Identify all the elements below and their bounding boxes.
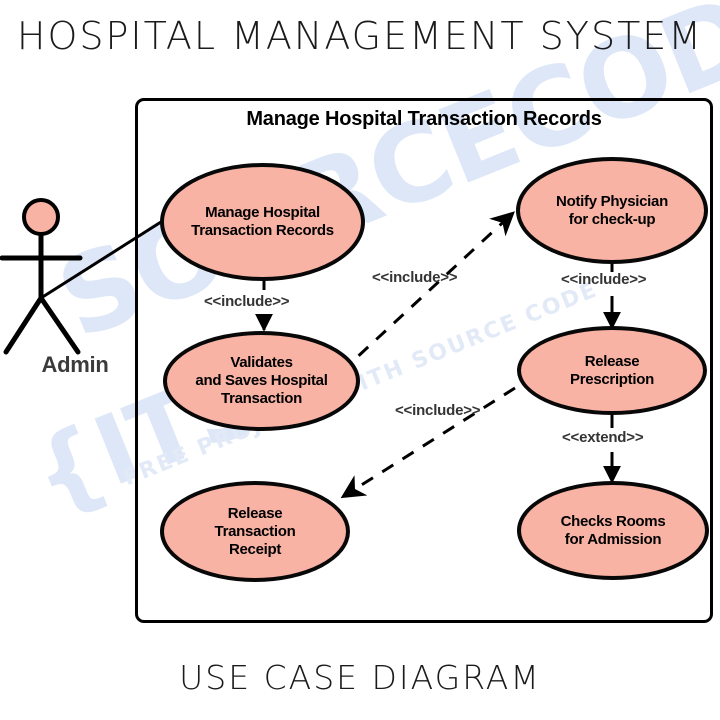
usecase-label: Checks Roomsfor Admission [553, 513, 674, 549]
actor-body-icon [2, 236, 80, 352]
system-boundary-title: Manage Hospital Transaction Records [135, 108, 713, 131]
usecase-label: Validatesand Saves HospitalTransaction [187, 354, 335, 408]
usecase-label: Manage HospitalTransaction Records [183, 204, 342, 240]
usecase-checks-rooms-for-admission[interactable]: Checks Roomsfor Admission [517, 481, 709, 580]
stereotype-prescription-to-receipt: <<include>> [395, 402, 480, 419]
usecase-release-transaction-receipt[interactable]: ReleaseTransactionReceipt [160, 481, 350, 582]
usecase-manage-hospital-transaction-records[interactable]: Manage HospitalTransaction Records [160, 163, 365, 281]
usecase-label: ReleaseTransactionReceipt [207, 505, 304, 559]
stereotype-prescription-to-rooms: <<extend>> [562, 429, 643, 446]
page-title: HOSPITAL MANAGEMENT SYSTEM [0, 14, 720, 58]
stereotype-manage-to-validates: <<include>> [204, 293, 289, 310]
stereotype-notify-to-prescription: <<include>> [561, 271, 646, 288]
usecase-label: ReleasePrescription [562, 353, 662, 389]
stereotype-validates-to-notify: <<include>> [372, 269, 457, 286]
usecase-release-prescription[interactable]: ReleasePrescription [517, 326, 707, 415]
actor-head-icon [22, 198, 60, 236]
page-footer-caption: USE CASE DIAGRAM [0, 658, 720, 697]
usecase-notify-physician-for-check-up[interactable]: Notify Physicianfor check-up [516, 157, 708, 264]
use-case-diagram-canvas: {ITS SOURCECODE FREE PROJECTS WITH SOURC… [0, 0, 720, 720]
actor-label-admin: Admin [0, 352, 150, 378]
usecase-validates-and-saves-hospital-transaction[interactable]: Validatesand Saves HospitalTransaction [163, 331, 360, 431]
usecase-label: Notify Physicianfor check-up [548, 193, 676, 229]
